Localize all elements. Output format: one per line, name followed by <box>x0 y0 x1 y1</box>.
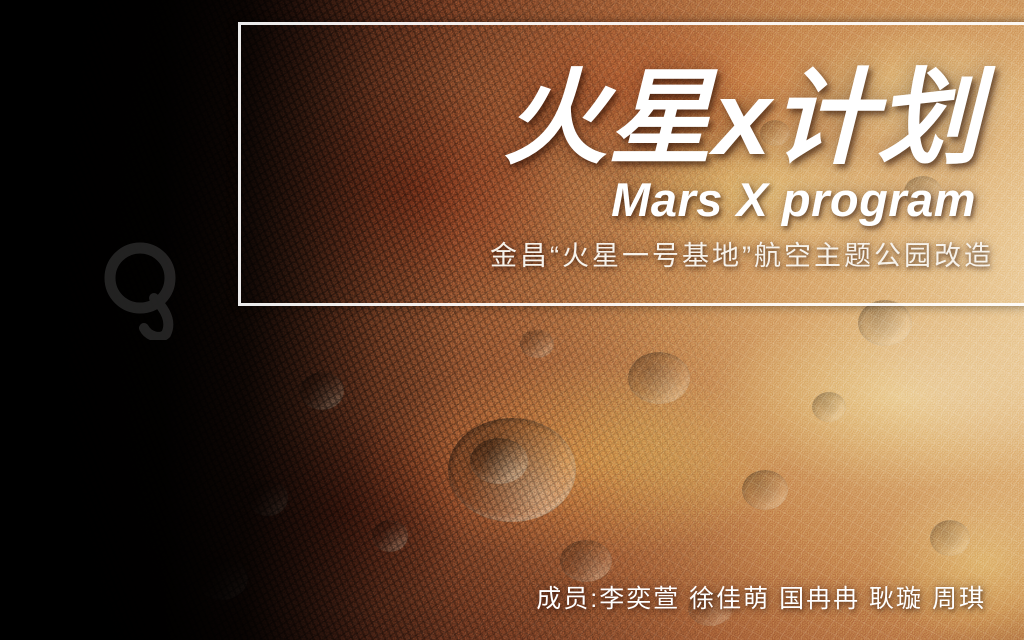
page-title-english: Mars X program <box>611 176 976 223</box>
poster-canvas: 火星x计划 Mars X program 金昌“火星一号基地”航空主题公园改造 … <box>0 0 1024 640</box>
title-block: 火星x计划 Mars X program 金昌“火星一号基地”航空主题公园改造 <box>238 22 1024 300</box>
credits-line: 成员:李奕萱 徐佳萌 国冉冉 耿璇 周琪 <box>536 587 986 612</box>
page-subtitle: 金昌“火星一号基地”航空主题公园改造 <box>490 243 994 270</box>
watermark-icon <box>96 236 214 340</box>
page-title: 火星x计划 <box>503 66 982 172</box>
